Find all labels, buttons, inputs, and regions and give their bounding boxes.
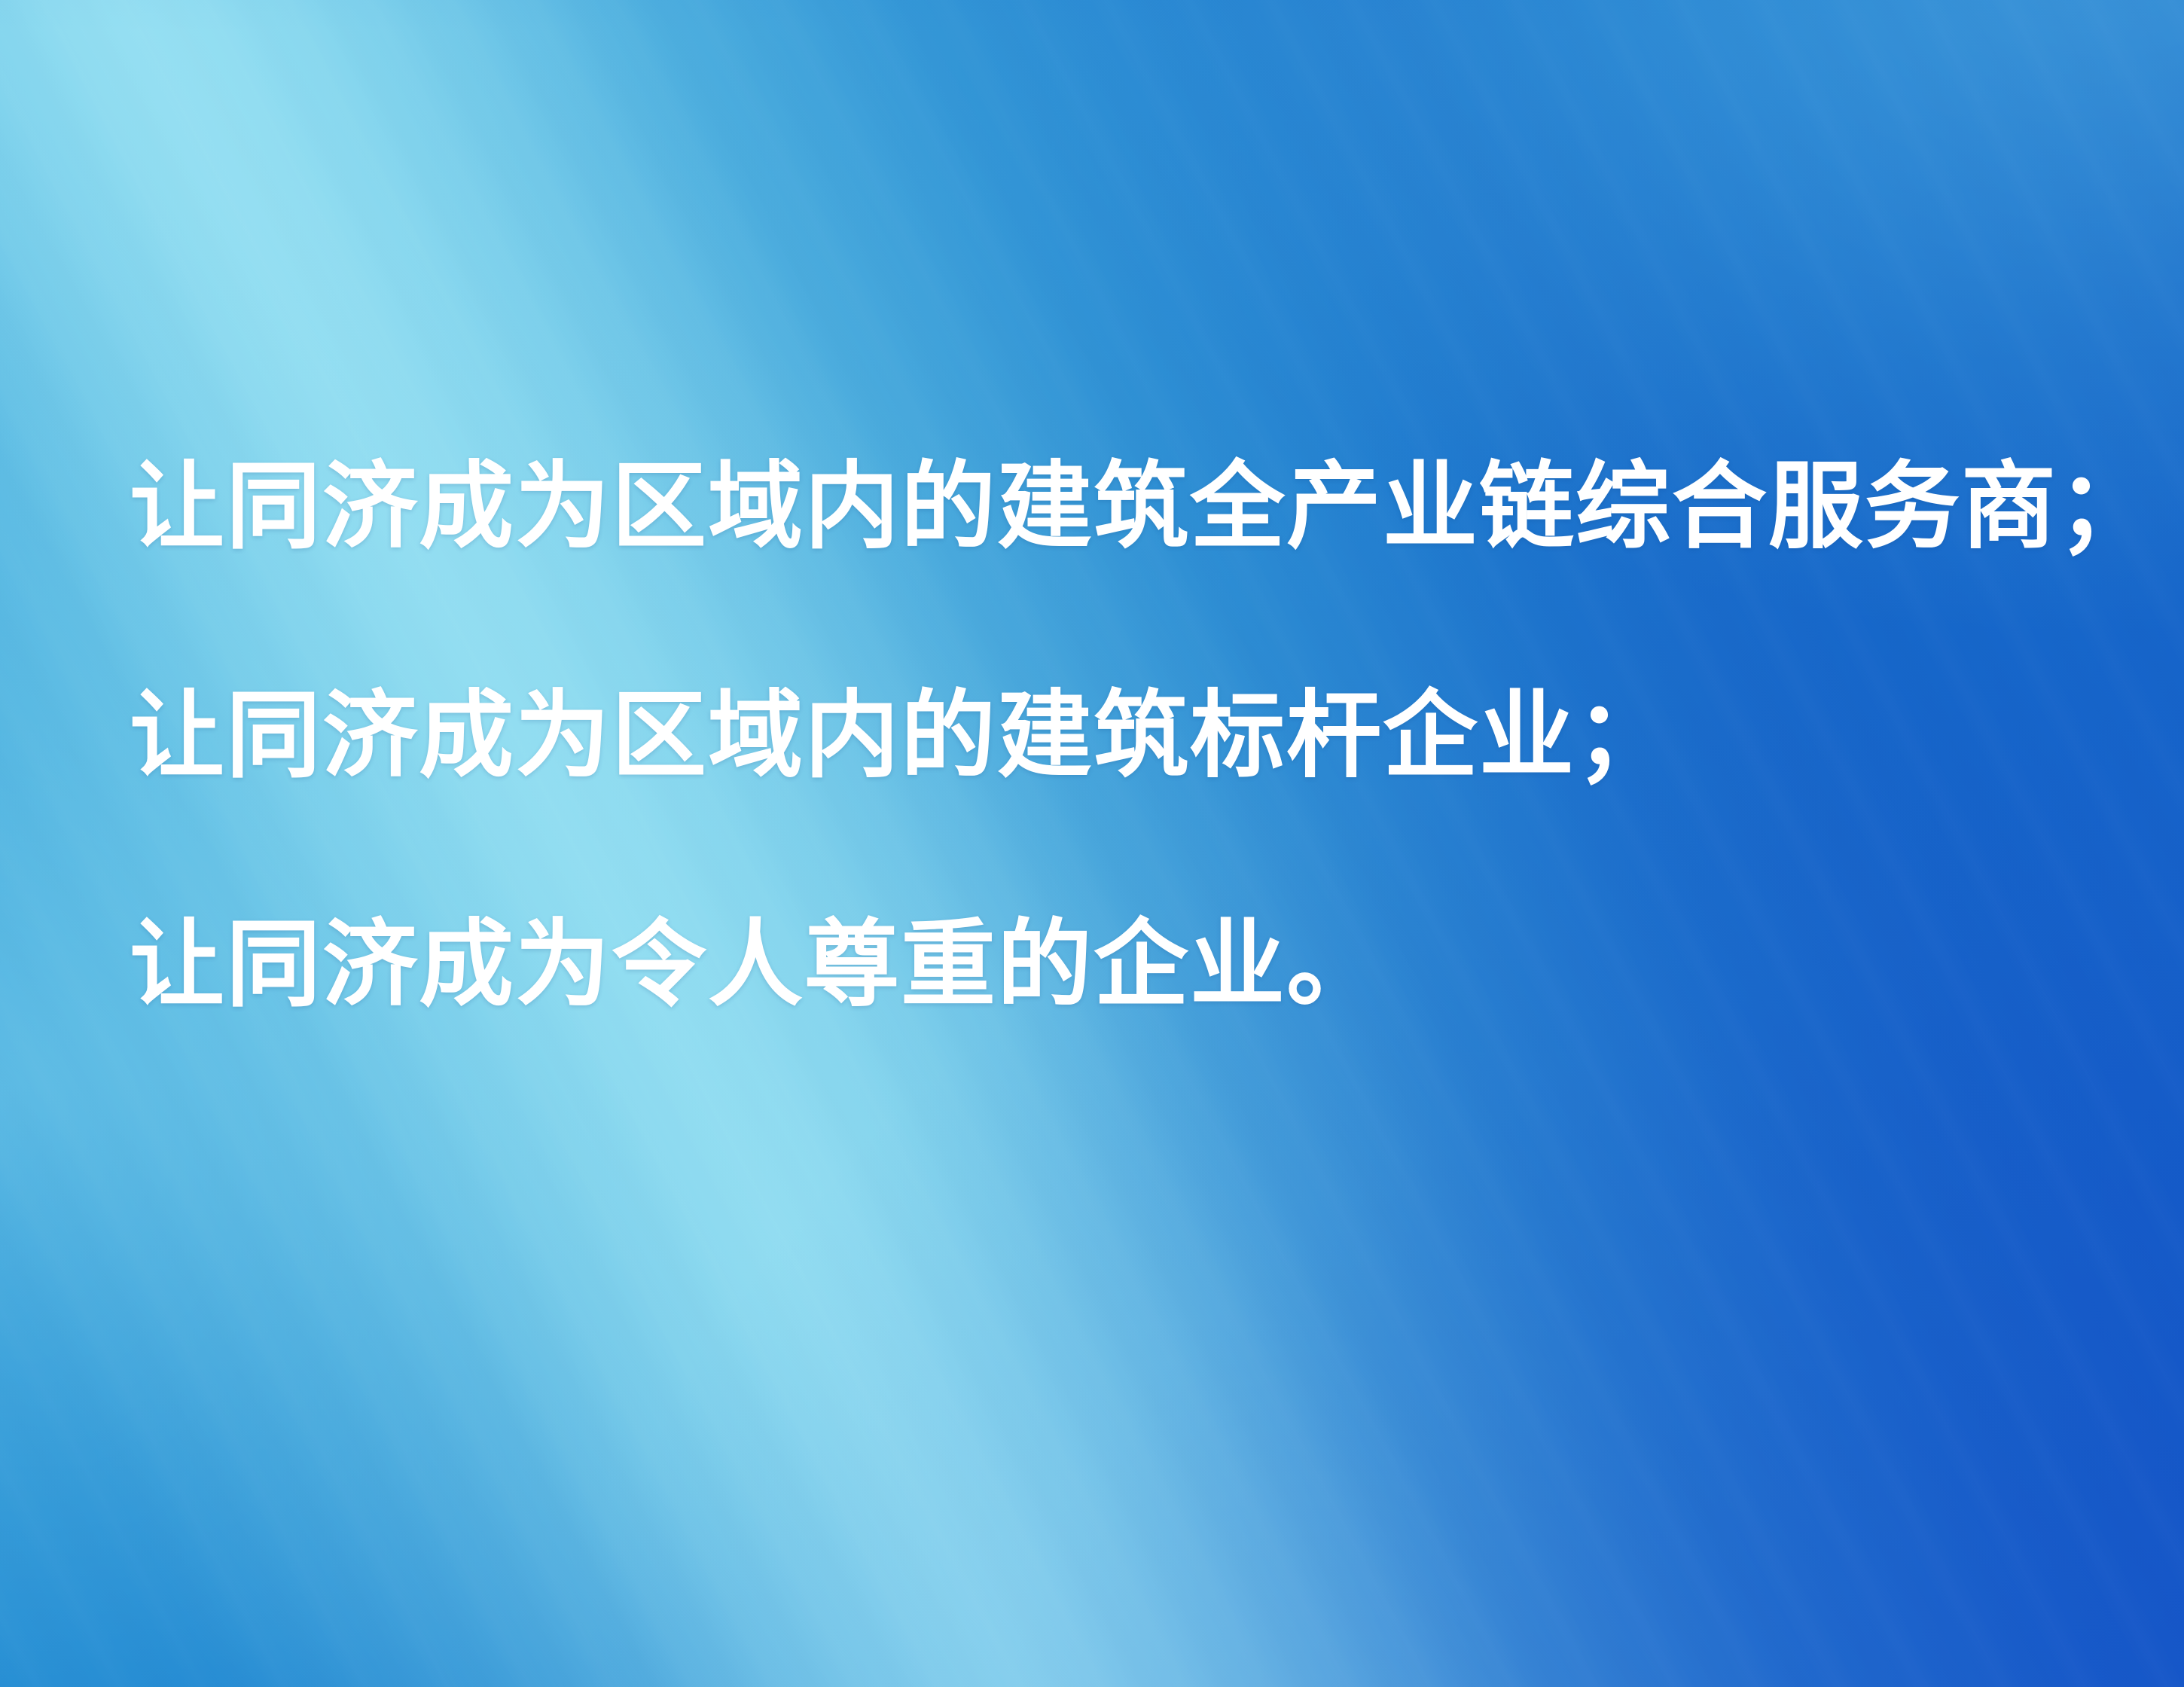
vision-line-2: 让同济成为区域内的建筑标杆企业； (130, 690, 2088, 785)
line-spacer-1 (130, 556, 2088, 690)
vision-line-3: 让同济成为令人尊重的企业。 (130, 919, 2088, 1014)
presentation-slide: 让同济成为区域内的建筑全产业链综合服务商； 让同济成为区域内的建筑标杆企业； 让… (0, 0, 2184, 1687)
vision-statement-block: 让同济成为区域内的建筑全产业链综合服务商； 让同济成为区域内的建筑标杆企业； 让… (130, 461, 2088, 1014)
vision-line-1: 让同济成为区域内的建筑全产业链综合服务商； (130, 461, 2088, 556)
line-spacer-2 (130, 785, 2088, 919)
